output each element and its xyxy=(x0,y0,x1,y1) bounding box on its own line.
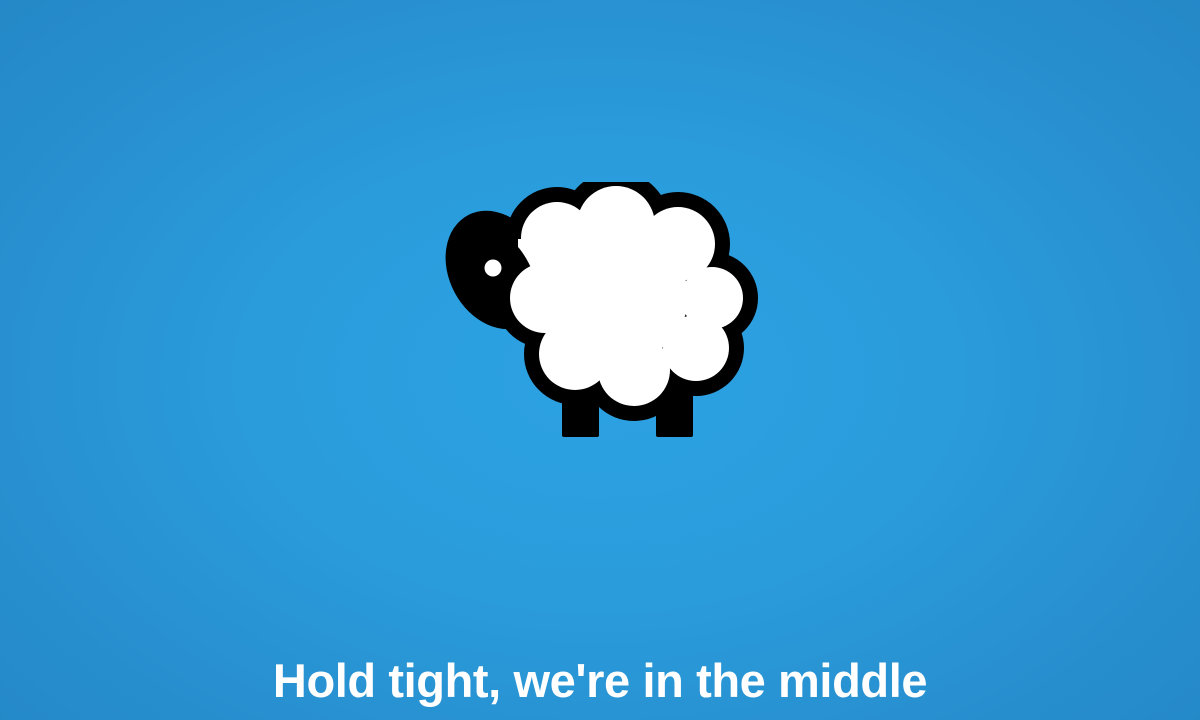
coming-soon-page: Hold tight, we're in the middle of build… xyxy=(0,0,1200,720)
sheep-illustration xyxy=(435,182,758,437)
sheep-eye xyxy=(485,260,502,277)
headline-line-1: Hold tight, we're in the middle xyxy=(0,653,1200,708)
sheep-logo xyxy=(435,182,765,444)
sheep-body xyxy=(495,182,758,421)
page-headline: Hold tight, we're in the middle of build… xyxy=(0,543,1200,720)
page-stage: Hold tight, we're in the middle of build… xyxy=(0,0,1200,720)
